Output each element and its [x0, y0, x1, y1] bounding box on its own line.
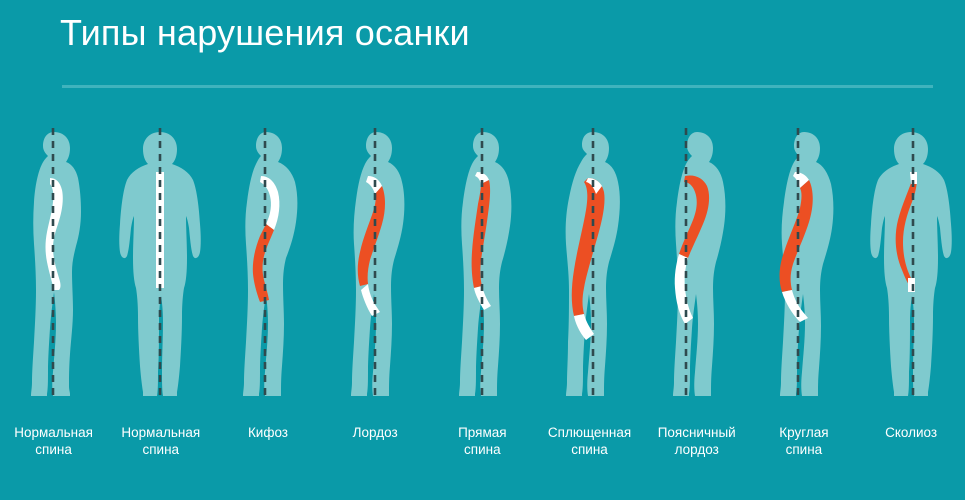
posture-illustration-side	[322, 128, 429, 403]
figure-label-splyushchennaya-spina: Сплющенная спина	[536, 424, 643, 458]
label-line-2: лордоз	[645, 441, 748, 458]
label-line-1: Сплющенная	[538, 424, 641, 441]
figure-poyasnichnyy-lordoz	[643, 128, 750, 403]
figure-label-normalnaya-spina-side: Нормальная спина	[0, 424, 107, 458]
posture-illustration-front	[107, 128, 214, 403]
figure-label-kifoz: Кифоз	[214, 424, 321, 458]
figure-row	[0, 128, 965, 403]
spine-straight	[156, 172, 164, 288]
label-line-2: спина	[431, 441, 534, 458]
body-silhouette	[870, 132, 952, 396]
figure-label-pryamaya-spina: Прямая спина	[429, 424, 536, 458]
figure-kruglaya-spina	[750, 128, 857, 403]
title-divider	[62, 85, 933, 88]
label-line-1: Прямая	[431, 424, 534, 441]
label-line-2: спина	[2, 441, 105, 458]
figure-normalnaya-spina-front	[107, 128, 214, 403]
figure-skolioz	[858, 128, 965, 403]
figure-normalnaya-spina-side	[0, 128, 107, 403]
infographic-page: Типы нарушения осанки	[0, 0, 965, 500]
posture-illustration-side	[429, 128, 536, 403]
label-line-2: спина	[752, 441, 855, 458]
posture-illustration-side	[536, 128, 643, 403]
figure-label-kruglaya-spina: Круглая спина	[750, 424, 857, 458]
posture-illustration-side	[750, 128, 857, 403]
label-line-1: Поясничный	[645, 424, 748, 441]
figure-lordoz	[322, 128, 429, 403]
label-row: Нормальная спина Нормальная спина Кифоз …	[0, 424, 965, 458]
figure-pryamaya-spina	[429, 128, 536, 403]
body-silhouette	[243, 132, 297, 396]
label-line-2: спина	[538, 441, 641, 458]
body-silhouette	[459, 132, 511, 396]
label-line-1: Нормальная	[109, 424, 212, 441]
label-line-1: Круглая	[752, 424, 855, 441]
figure-splyushchennaya-spina	[536, 128, 643, 403]
figure-label-lordoz: Лордоз	[322, 424, 429, 458]
label-line-1: Лордоз	[324, 424, 427, 441]
posture-illustration-side	[0, 128, 107, 403]
posture-illustration-front	[858, 128, 965, 403]
label-line-2: спина	[109, 441, 212, 458]
page-title: Типы нарушения осанки	[60, 11, 470, 55]
label-line-1: Сколиоз	[860, 424, 963, 441]
figure-kifoz	[214, 128, 321, 403]
figure-label-poyasnichnyy-lordoz: Поясничный лордоз	[643, 424, 750, 458]
posture-illustration-side	[214, 128, 321, 403]
label-line-1: Кифоз	[216, 424, 319, 441]
figure-label-normalnaya-spina-front: Нормальная спина	[107, 424, 214, 458]
label-line-1: Нормальная	[2, 424, 105, 441]
body-silhouette	[31, 132, 81, 396]
posture-illustration-side	[643, 128, 750, 403]
figure-label-skolioz: Сколиоз	[858, 424, 965, 458]
